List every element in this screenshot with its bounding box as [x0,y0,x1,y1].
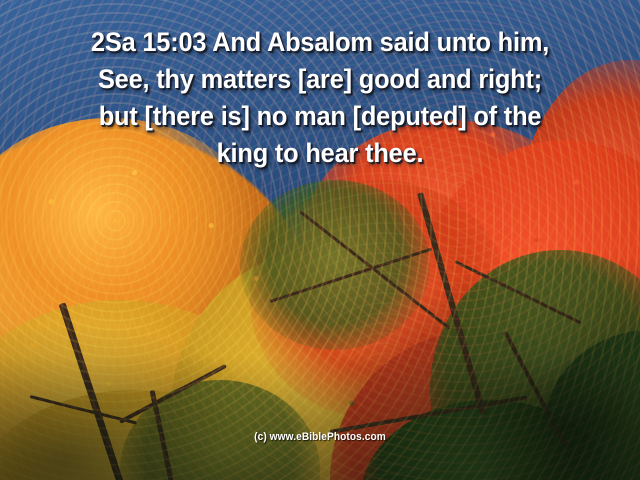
verse-text: 2Sa 15:03 And Absalom said unto him, See… [19,24,621,172]
verse-image-card: 2Sa 15:03 And Absalom said unto him, See… [0,0,640,480]
watermark-credit: (c) www.eBiblePhotos.com [26,431,615,443]
